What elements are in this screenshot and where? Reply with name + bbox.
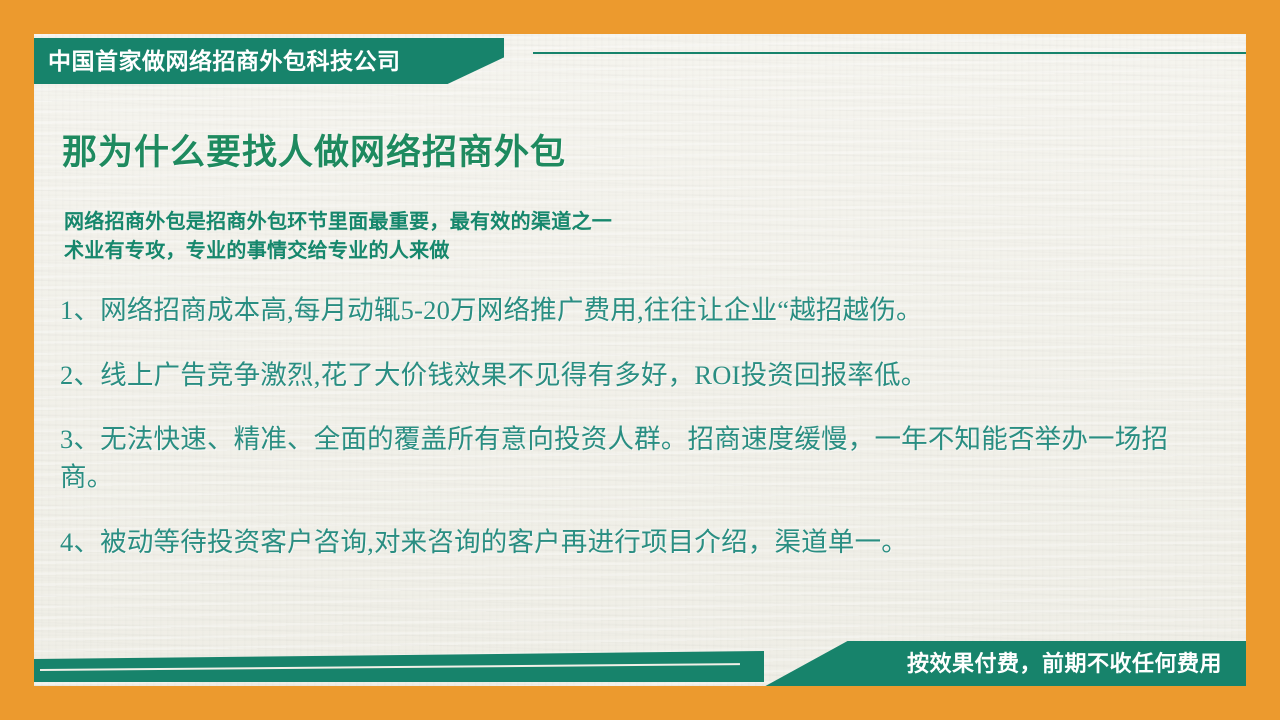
footer-tagline-label: 按效果付费，前期不收任何费用 [907,653,1222,675]
subtitle-block: 网络招商外包是招商外包环节里面最重要，最有效的渠道之一 术业有专攻，专业的事情交… [64,208,1184,266]
body-list: 1、网络招商成本高,每月动辄5-20万网络推广费用,往往让企业“越招越伤。 2、… [60,292,1185,561]
list-item: 2、线上广告竞争激烈,花了大价钱效果不见得有多好，ROI投资回报率低。 [60,357,1185,395]
list-item: 1、网络招商成本高,每月动辄5-20万网络推广费用,往往让企业“越招越伤。 [60,292,1185,330]
page-title: 那为什么要找人做网络招商外包 [62,132,1182,174]
subtitle-line-1: 网络招商外包是招商外包环节里面最重要，最有效的渠道之一 [64,208,1184,237]
list-item: 4、被动等待投资客户咨询,对来咨询的客户再进行项目介绍，渠道单一。 [60,524,1185,562]
subtitle-line-2: 术业有专攻，专业的事情交给专业的人来做 [64,237,1184,266]
presentation-slide: 中国首家做网络招商外包科技公司 那为什么要找人做网络招商外包 网络招商外包是招商… [0,0,1280,720]
header-banner: 中国首家做网络招商外包科技公司 [34,38,504,84]
header-banner-label: 中国首家做网络招商外包科技公司 [48,50,401,73]
title-block: 那为什么要找人做网络招商外包 [62,132,1182,174]
list-item: 3、无法快速、精准、全面的覆盖所有意向投资人群。招商速度缓慢，一年不知能否举办一… [60,421,1185,496]
header-rule-divider [533,52,1246,54]
